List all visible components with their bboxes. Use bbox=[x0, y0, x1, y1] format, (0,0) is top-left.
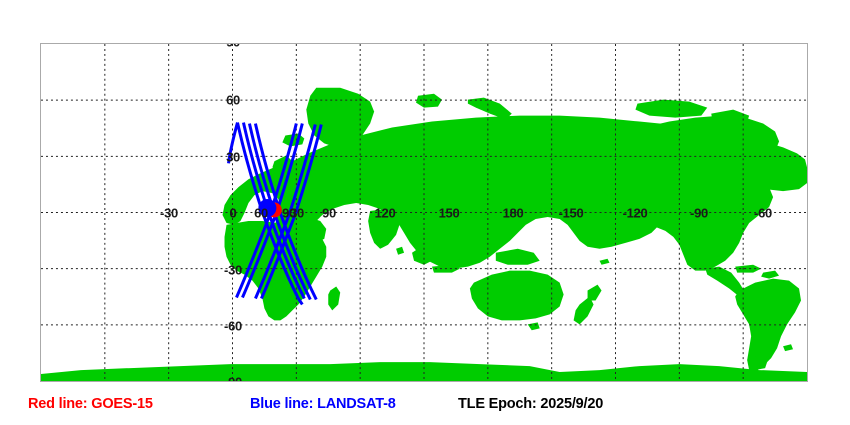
lat-tick-0: 0 bbox=[230, 206, 237, 221]
lon-tick-90b: 90 bbox=[322, 206, 336, 221]
lon-tick-60: 60 bbox=[254, 206, 268, 221]
lon-tick-180: 180 bbox=[503, 206, 524, 221]
lon-tick--30: -30 bbox=[160, 206, 178, 221]
legend-entry-goes15: Red line: GOES-15 bbox=[28, 396, 153, 412]
lon-tick--60: -60 bbox=[754, 206, 772, 221]
lon-tick--120: -120 bbox=[623, 206, 648, 221]
lon-tick--90: -90 bbox=[690, 206, 708, 221]
legend-entry-landsat8: Blue line: LANDSAT-8 bbox=[250, 396, 396, 412]
lon-tick--150: -150 bbox=[559, 206, 584, 221]
lat-tick--90: -90 bbox=[224, 375, 242, 383]
legend-entry-tle-epoch: TLE Epoch: 2025/9/20 bbox=[458, 396, 603, 412]
map-legend: Red line: GOES-15 Blue line: LANDSAT-8 T… bbox=[0, 396, 850, 420]
lat-tick-90: 90 bbox=[226, 43, 240, 50]
lat-tick--30: -30 bbox=[224, 263, 242, 278]
map-plot-area[interactable]: -30 0 30 60 90 90 120 150 180 -150 -120 … bbox=[40, 43, 808, 382]
satellite-ground-track-figure: -30 0 30 60 90 90 120 150 180 -150 -120 … bbox=[0, 0, 850, 425]
lon-tick-120: 120 bbox=[375, 206, 396, 221]
lat-tick--60: -60 bbox=[224, 319, 242, 334]
lon-tick-90: 90 bbox=[282, 206, 296, 221]
lon-tick-150: 150 bbox=[439, 206, 460, 221]
lat-tick-30: 30 bbox=[226, 150, 240, 165]
lat-tick-60: 60 bbox=[226, 93, 240, 108]
